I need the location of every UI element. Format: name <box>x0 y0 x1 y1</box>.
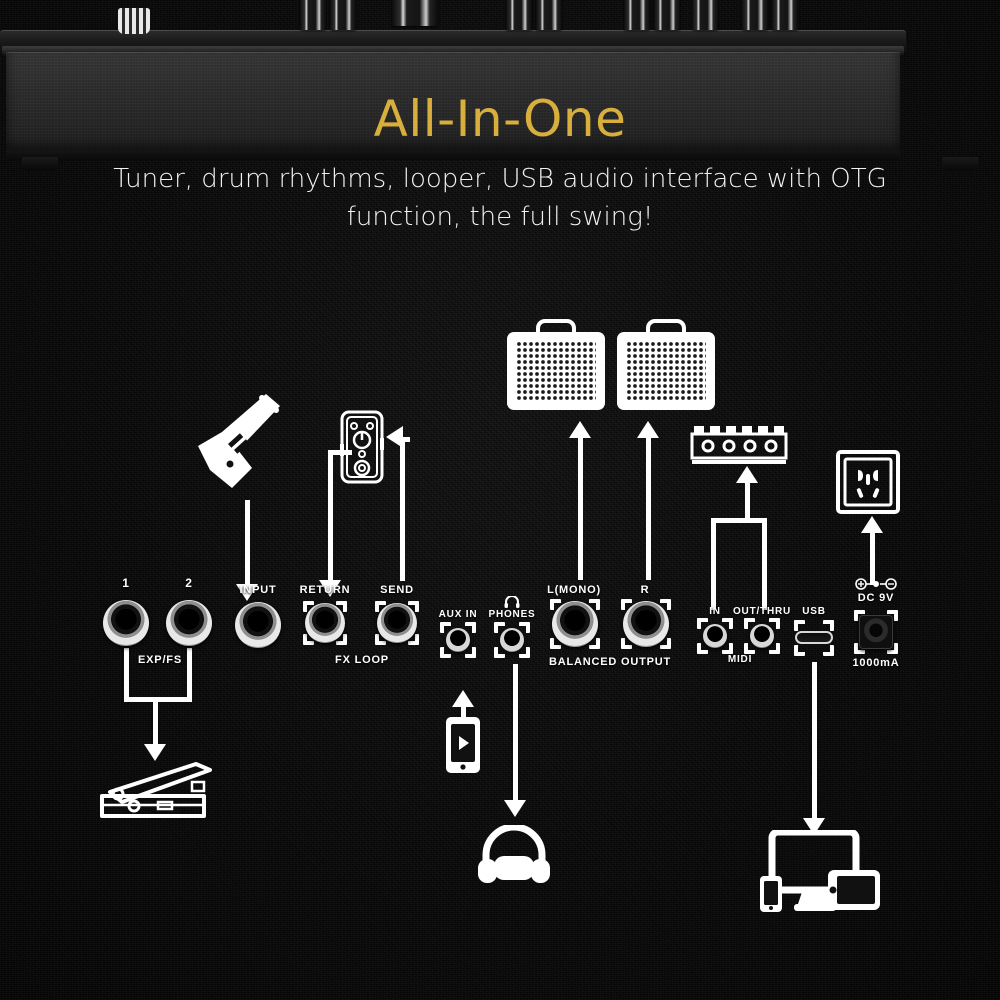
line-midi-out-up <box>762 518 767 610</box>
label-balanced-output: BALANCED OUTPUT <box>549 656 671 668</box>
jack-input[interactable] <box>235 602 281 648</box>
jack-exp-fs-1[interactable] <box>103 600 149 646</box>
jack-usb-c[interactable] <box>795 631 833 644</box>
label-usb: USB <box>802 606 826 617</box>
knob[interactable] <box>536 0 562 30</box>
guitar-icon <box>192 392 284 494</box>
label-midi-in: IN <box>709 606 721 617</box>
label-out-left: L(MONO) <box>547 584 601 596</box>
amp-grille <box>516 341 596 401</box>
line-right-out-to-amp <box>646 438 651 580</box>
line-exp1-down <box>124 648 129 700</box>
knob[interactable] <box>772 0 798 30</box>
page-subtitle: Tuner, drum rhythms, looper, USB audio i… <box>0 161 1000 236</box>
line-usb-to-devices <box>812 662 817 820</box>
infographic-canvas: All-In-One Tuner, drum rhythms, looper, … <box>0 0 1000 1000</box>
label-return: RETURN <box>300 584 351 596</box>
arrow-exp-to-pedal <box>144 744 166 761</box>
label-send: SEND <box>380 584 414 596</box>
line-left-out-to-amp <box>578 438 583 580</box>
label-midi-out: OUT/THRU <box>733 606 791 617</box>
label-out-right: R <box>641 584 650 596</box>
smartphone-play-icon <box>444 715 482 775</box>
jack-dc-power[interactable] <box>859 615 893 649</box>
label-dc-9v: DC 9V <box>858 592 894 604</box>
jack-output-left-mono[interactable] <box>552 601 598 647</box>
knob[interactable] <box>654 0 680 30</box>
jack-phones[interactable] <box>500 628 524 652</box>
line-midi-to-controller <box>745 483 750 521</box>
line-send-to-pedal <box>400 437 405 581</box>
line-exp-to-pedal <box>153 697 158 745</box>
knob[interactable] <box>742 0 768 30</box>
knob[interactable] <box>392 0 438 26</box>
label-exp-1: 1 <box>122 576 129 590</box>
label-midi-group: MIDI <box>728 654 752 665</box>
expression-pedal-icon <box>92 762 214 824</box>
page-title: All-In-One <box>0 92 1000 147</box>
midi-controller-icon <box>690 424 790 466</box>
headphones-icon <box>478 825 550 883</box>
line-pedal-to-return <box>328 450 333 580</box>
line-guitar-to-input <box>245 500 250 584</box>
arrow-send-to-pedal <box>386 426 403 448</box>
headline-block: All-In-One Tuner, drum rhythms, looper, … <box>0 92 1000 236</box>
computer-devices-icon <box>760 830 882 914</box>
amplifier-cabinet-icon <box>507 332 605 410</box>
arrow-phone-to-aux <box>452 690 474 707</box>
jack-fx-return[interactable] <box>305 603 345 643</box>
jack-midi-in[interactable] <box>703 624 727 648</box>
arrow-right-out-to-amp <box>637 421 659 438</box>
label-current: 1000mA <box>853 657 900 669</box>
jack-aux-in[interactable] <box>446 628 470 652</box>
label-input: INPUT <box>240 584 277 596</box>
top-panel-jack[interactable] <box>118 8 150 34</box>
headphone-small-icon <box>504 596 520 608</box>
line-exp-join <box>124 697 192 702</box>
line-phones-to-headphones <box>513 664 518 802</box>
label-phones: PHONES <box>488 609 535 620</box>
amplifier-cabinet-icon <box>617 332 715 410</box>
line-midi-join <box>711 518 767 523</box>
jack-output-right[interactable] <box>623 601 669 647</box>
knob[interactable] <box>330 0 356 30</box>
line-midi-in-up <box>711 518 716 610</box>
label-exp-fs-group: EXP/FS <box>138 654 182 666</box>
jack-exp-fs-2[interactable] <box>166 600 212 646</box>
arrow-midi-to-controller <box>736 466 758 483</box>
jack-midi-out-thru[interactable] <box>750 624 774 648</box>
amp-handle-icon <box>536 319 576 335</box>
arrow-phones-to-headphones <box>504 800 526 817</box>
label-exp-2: 2 <box>185 576 192 590</box>
knob[interactable] <box>692 0 718 30</box>
stompbox-pedal-icon <box>340 410 384 484</box>
label-aux-in: AUX IN <box>439 609 478 620</box>
knob[interactable] <box>624 0 650 30</box>
arrow-dc-to-outlet <box>861 516 883 533</box>
dc-polarity-icon <box>855 578 897 590</box>
knob[interactable] <box>506 0 532 30</box>
knob[interactable] <box>300 0 326 30</box>
line-exp2-down <box>187 648 192 700</box>
amp-handle-icon <box>646 319 686 335</box>
arrow-left-out-to-amp <box>569 421 591 438</box>
amp-grille <box>626 341 706 401</box>
jack-fx-send[interactable] <box>377 603 417 643</box>
label-fx-loop: FX LOOP <box>335 654 389 666</box>
wall-outlet-icon <box>836 450 900 514</box>
